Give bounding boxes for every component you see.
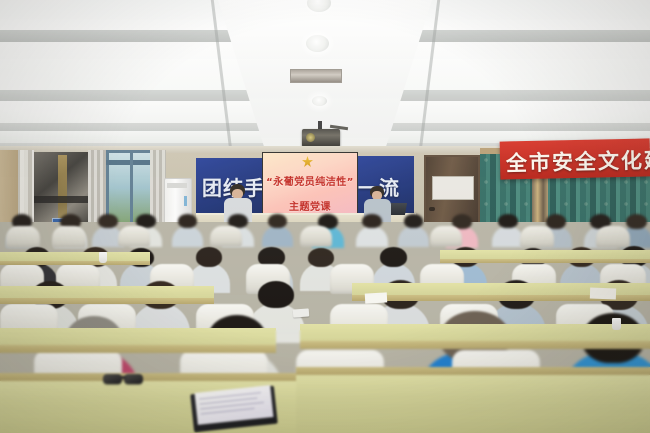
attendee-head xyxy=(258,281,294,308)
loose-papers xyxy=(365,292,387,303)
ac-vent xyxy=(167,183,187,188)
attendee-shoulders xyxy=(356,226,388,247)
front-desk-edge-right xyxy=(296,367,650,375)
chair-back xyxy=(596,226,630,248)
desk-row-2-right xyxy=(300,324,650,341)
chair-back xyxy=(210,226,242,247)
door-handle[interactable] xyxy=(429,207,435,211)
sunglasses-on-desk xyxy=(103,372,145,385)
desk-row-2-left xyxy=(0,328,276,345)
downlight-icon xyxy=(306,35,329,52)
mobile-phone-on-desk xyxy=(293,308,310,317)
chair-back xyxy=(118,226,150,247)
desk-edge xyxy=(440,259,650,263)
projector-lens-icon xyxy=(306,133,315,142)
ceiling xyxy=(0,0,650,152)
slide-title-line1: “永葡党员纯洁性” xyxy=(264,173,356,188)
attendee-shoulders xyxy=(398,226,428,247)
desk-edge xyxy=(300,341,650,349)
front-desk-edge-left xyxy=(0,373,300,381)
attendee-shoulders xyxy=(172,226,202,247)
downlight-icon xyxy=(312,96,327,106)
attendee-head xyxy=(98,214,118,228)
attendee-head xyxy=(268,214,287,228)
desk-edge xyxy=(0,298,214,304)
attendee-head xyxy=(362,214,382,228)
attendee-head xyxy=(404,214,423,228)
attendee-head xyxy=(498,214,518,228)
desk-row-far-left xyxy=(0,252,150,261)
paper-cup xyxy=(99,252,107,263)
desk-row-3-left xyxy=(0,286,214,298)
banner-text: 全市安全文化建设 xyxy=(506,144,650,177)
desk-edge xyxy=(0,261,150,265)
desk-edge xyxy=(0,345,276,353)
chair-back xyxy=(520,226,554,248)
chair-back xyxy=(430,226,462,247)
chair-back xyxy=(300,226,332,247)
attendee-head xyxy=(626,214,647,229)
chair-back xyxy=(52,226,86,248)
attendee-head xyxy=(380,247,407,267)
marble-dark-band xyxy=(34,196,94,203)
desk-row-far-right xyxy=(440,250,650,259)
ceiling-vent xyxy=(290,69,342,83)
notice-board xyxy=(432,176,474,200)
attendee-head xyxy=(178,214,197,228)
attendee-head xyxy=(308,248,334,267)
front-desk-right xyxy=(296,372,650,433)
attendee-head xyxy=(546,214,566,229)
slide-title-line2: 主题党课 xyxy=(264,198,356,213)
ac-indicator-icon xyxy=(184,196,187,206)
paper-cup xyxy=(612,318,621,330)
attendee-head xyxy=(196,247,222,267)
chair-back xyxy=(6,226,40,248)
attendee-shoulders xyxy=(262,226,292,247)
meeting-hall-photo: 团结手 一流 “永葡党员纯洁性” 主题党课 全市安全文化建设 xyxy=(0,0,650,433)
loose-papers xyxy=(590,288,616,300)
